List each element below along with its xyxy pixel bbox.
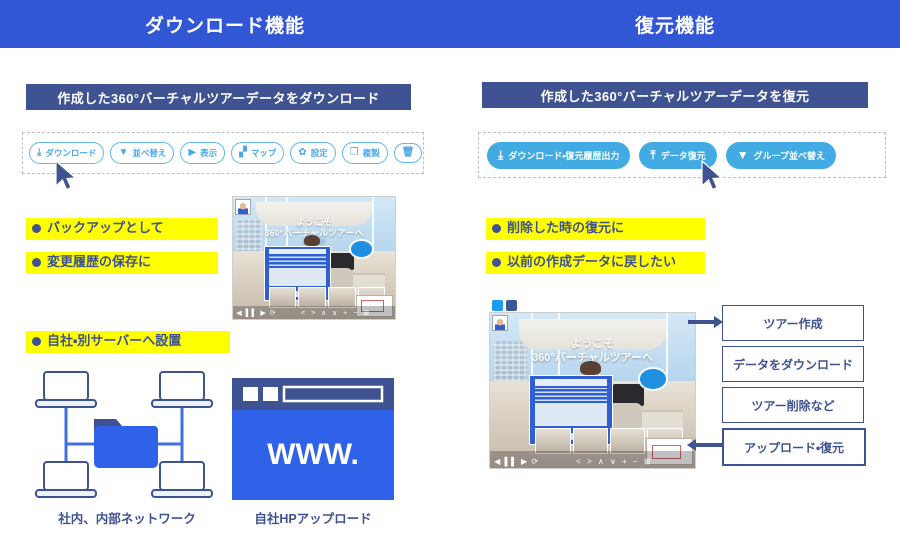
flow-box-upload-restore[interactable]: アップロード・復元 [722, 428, 866, 466]
header-band: ダウンロード機能 復元機能 [0, 0, 900, 48]
toolbar-button-map[interactable]: ▞ マップ [231, 142, 284, 164]
tour-preview-right: ようこそ 360°バーチャルツアーへ ◀ ▌▌ ▶ ⟳ < > ∧ ∨ + [489, 312, 696, 469]
right-bullet-1: 削除した時の復元に [486, 218, 705, 240]
right-bullet-1-label: 削除した時の復元に [507, 221, 624, 236]
social-icons [492, 300, 517, 311]
toolbar-button-settings-label: 設定 [311, 147, 328, 159]
caption-internal-network: 社内、内部ネットワーク [34, 508, 220, 527]
tour-panel-header [535, 379, 607, 385]
play-icon: ▶ [188, 148, 196, 158]
toolbar-button-group-sort-label: グループ並べ替え [754, 149, 825, 162]
tour-panel-text [269, 256, 326, 266]
tour-viewer-controls-left[interactable]: ◀ ▌▌ ▶ ⟳ [236, 309, 276, 317]
tour-avatar-icon [235, 199, 251, 215]
right-column: 作成した360°バーチャルツアーデータを復元 ⤓ ダウンロード・復元履歴出力 ⤒… [450, 48, 900, 556]
tour-panel-text [535, 388, 607, 400]
flow-box-delete-tour[interactable]: ツアー削除など [722, 387, 864, 423]
flow-arrow-right-icon [688, 314, 724, 335]
toolbar-button-download-label: ダウンロード [45, 147, 96, 159]
page-title-restore: 復元機能 [635, 16, 715, 37]
tour-welcome-line1: ようこそ [490, 338, 695, 352]
trash-icon: 🗑 [402, 148, 415, 158]
flow-box-download-data[interactable]: データをダウンロード [722, 346, 864, 382]
right-subtitle-bar: 作成した360°バーチャルツアーデータを復元 [482, 82, 868, 108]
toolbar-button-download-history[interactable]: ⤓ ダウンロード・復元履歴出力 [487, 142, 630, 169]
twitter-icon[interactable] [492, 300, 503, 311]
sort-triangle-icon: ▼ [118, 148, 128, 158]
right-toolbar: ⤓ ダウンロード・復元履歴出力 ⤒ データ復元 ▼ グループ並べ替え [478, 132, 886, 178]
toolbar-button-restore-data-label: データ復元 [661, 149, 706, 162]
bullet-dot-icon [492, 258, 501, 267]
gear-icon: ✿ [298, 148, 306, 158]
toolbar-button-delete[interactable]: 🗑 [394, 143, 423, 163]
tour-panel-header [269, 249, 326, 254]
toolbar-button-sort-label: 並べ替え [132, 147, 166, 159]
tour-panel-image [535, 403, 607, 426]
right-bullet-2: 以前の作成データに戻したい [486, 252, 705, 274]
left-toolbar: ⤓ ダウンロード ▼ 並べ替え ▶ 表示 ▞ マップ ✿ 設定 ❐ 複製 [22, 132, 424, 174]
bullet-dot-icon [32, 258, 41, 267]
mouse-cursor-right [700, 160, 726, 192]
left-bullet-3: 自社・別サーバーへ設置 [26, 331, 230, 353]
download-icon: ⤓ [37, 148, 41, 158]
tour-preview-left: ようこそ 360°バーチャルツアーへ START ◀ ▌▌ ▶ ⟳ [232, 196, 396, 320]
right-bullet-2-label: 以前の作成データに戻したい [507, 255, 676, 270]
header-col-right: 復元機能 [450, 11, 900, 38]
flow-box-create-tour[interactable]: ツアー作成 [722, 305, 864, 341]
tour-panel-image [269, 268, 326, 286]
hp-upload-graphic: WWW. [232, 378, 394, 500]
toolbar-button-download-history-label: ダウンロード・復元履歴出力 [508, 149, 619, 162]
left-bullet-2: 変更履歴の保存に [26, 252, 218, 274]
sort-triangle-icon: ▼ [737, 149, 749, 161]
tour-guide-hair [580, 361, 601, 375]
toolbar-button-duplicate[interactable]: ❐ 複製 [342, 142, 388, 164]
tour-viewer-controls-center[interactable]: < > ∧ ∨ + − ⊞ [576, 457, 652, 466]
tour-welcome-line1: ようこそ [233, 217, 395, 228]
tour-hotspot-icon [351, 241, 372, 257]
left-subtitle-bar: 作成した360°バーチャルツアーデータをダウンロード [26, 84, 411, 110]
left-column: 作成した360°バーチャルツアーデータをダウンロード ⤓ ダウンロード ▼ 並べ… [0, 48, 450, 556]
download-icon: ⤓ [498, 149, 503, 161]
bullet-dot-icon [492, 224, 501, 233]
toolbar-button-sort[interactable]: ▼ 並べ替え [110, 142, 174, 164]
header-col-left: ダウンロード機能 [0, 11, 450, 38]
facebook-icon[interactable] [506, 300, 517, 311]
flow-arrow-left-icon [686, 437, 724, 458]
left-bullet-3-label: 自社・別サーバーへ設置 [47, 334, 181, 349]
tour-viewer-controls-center[interactable]: < > ∧ ∨ + − ⊞ [301, 309, 371, 317]
mouse-cursor-left [54, 160, 80, 192]
tour-guide-hair [304, 235, 320, 246]
www-label: WWW. [267, 438, 359, 471]
caption-hp-upload: 自社HPアップロード [232, 508, 394, 527]
tour-hotspot-icon [640, 369, 667, 389]
toolbar-button-view-label: 表示 [200, 147, 217, 159]
upload-restore-icon: ⤒ [650, 149, 655, 161]
page-title-download: ダウンロード機能 [145, 16, 305, 37]
bullet-dot-icon [32, 224, 41, 233]
toolbar-button-duplicate-label: 複製 [363, 147, 380, 159]
tour-avatar-icon [492, 315, 508, 331]
map-grid-icon: ▞ [239, 148, 247, 158]
toolbar-button-settings[interactable]: ✿ 設定 [290, 142, 335, 164]
infographic-page: ダウンロード機能 復元機能 作成した360°バーチャルツアーデータをダウンロード… [0, 0, 900, 556]
toolbar-button-group-sort[interactable]: ▼ グループ並べ替え [726, 142, 836, 169]
left-bullet-1: バックアップとして [26, 218, 218, 240]
tour-viewer-controls-left[interactable]: ◀ ▌▌ ▶ ⟳ [494, 457, 539, 466]
toolbar-button-map-label: マップ [251, 147, 277, 159]
copy-icon: ❐ [350, 148, 359, 158]
internal-network-diagram [34, 370, 220, 500]
bullet-dot-icon [32, 337, 41, 346]
left-bullet-2-label: 変更履歴の保存に [47, 255, 151, 270]
toolbar-button-view[interactable]: ▶ 表示 [180, 142, 225, 164]
left-bullet-1-label: バックアップとして [47, 221, 164, 236]
